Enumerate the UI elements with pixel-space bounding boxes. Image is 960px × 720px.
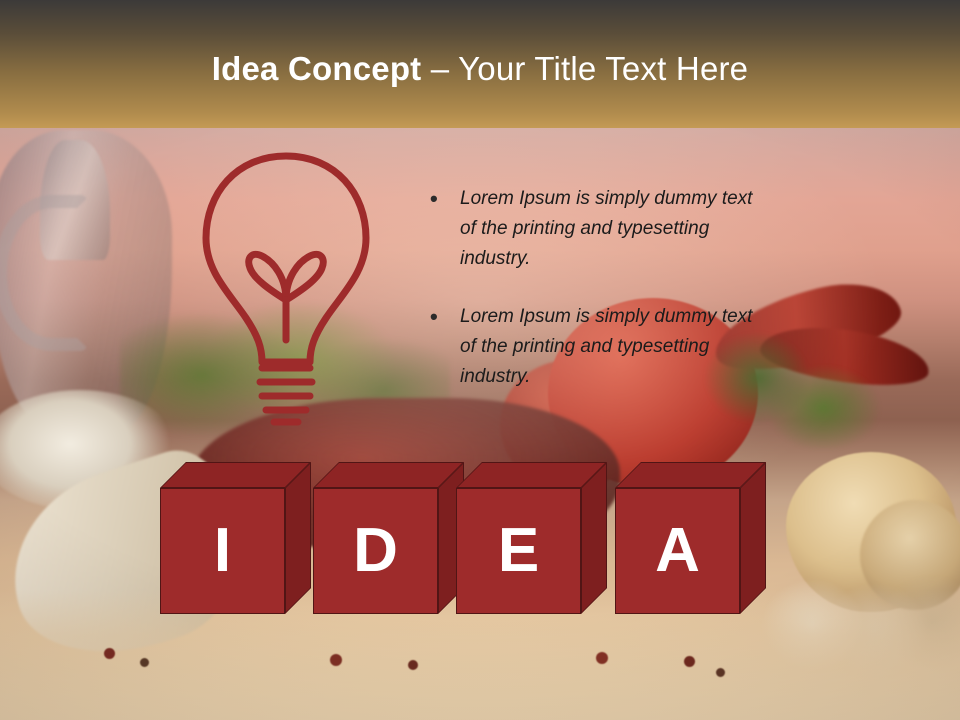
page-title-separator: – [421, 50, 458, 87]
cube-side-face [740, 462, 766, 614]
cube-side-face [285, 462, 311, 614]
cube-letter: A [615, 488, 740, 614]
slide-canvas: Idea Concept – Your Title Text Here • Lo… [0, 0, 960, 720]
cube-letter-i: I [160, 462, 312, 614]
bullet-list: • Lorem Ipsum is simply dummy text of th… [430, 184, 770, 420]
cube-letter: E [456, 488, 581, 614]
cube-letter-a: A [615, 462, 767, 614]
bullet-text: Lorem Ipsum is simply dummy text of the … [460, 302, 770, 392]
title-bar: Idea Concept – Your Title Text Here [0, 0, 960, 128]
bullet-marker-icon: • [430, 184, 460, 214]
page-title: Idea Concept – Your Title Text Here [0, 49, 960, 89]
cube-side-face [581, 462, 607, 614]
cube-letter-d: D [313, 462, 465, 614]
cube-letter-e: E [456, 462, 608, 614]
cube-letter: D [313, 488, 438, 614]
page-title-bold: Idea Concept [212, 50, 422, 87]
idea-cubes-group: I D E A [160, 462, 780, 614]
cube-letter: I [160, 488, 285, 614]
bullet-marker-icon: • [430, 302, 460, 332]
list-item: • Lorem Ipsum is simply dummy text of th… [430, 184, 770, 274]
page-title-light: Your Title Text Here [458, 50, 748, 87]
bullet-text: Lorem Ipsum is simply dummy text of the … [460, 184, 770, 274]
lightbulb-icon [196, 150, 376, 432]
list-item: • Lorem Ipsum is simply dummy text of th… [430, 302, 770, 392]
